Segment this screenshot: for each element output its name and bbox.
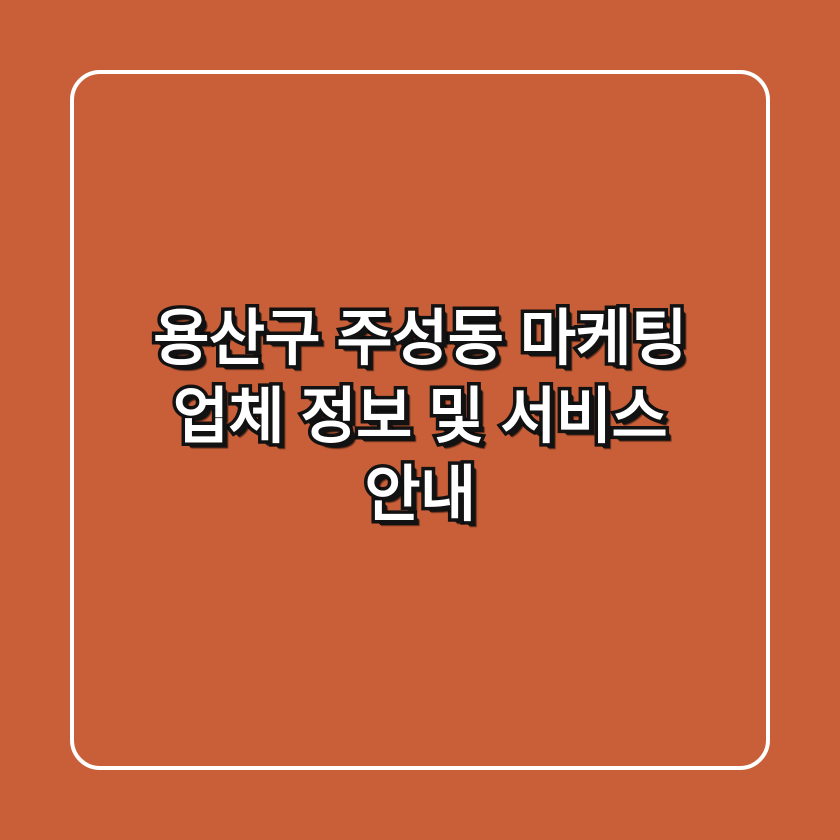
- title-block: 용산구 주성동 마케팅 업체 정보 및 서비스 안내: [0, 0, 840, 840]
- poster-canvas: 용산구 주성동 마케팅 업체 정보 및 서비스 안내: [0, 0, 840, 840]
- page-title: 용산구 주성동 마케팅 업체 정보 및 서비스 안내: [120, 299, 720, 533]
